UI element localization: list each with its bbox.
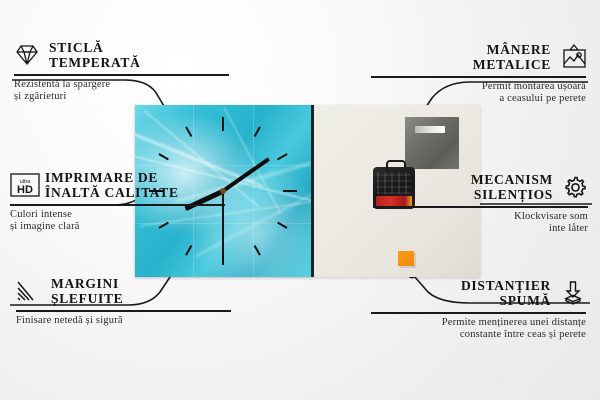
clock-tick bbox=[185, 245, 192, 256]
feature-header: STICLĂ TEMPERATĂ bbox=[14, 40, 229, 70]
feature-header: ultra HD IMPRIMARE DE ÎNALTĂ CALITATE bbox=[10, 170, 225, 200]
feature-subtitle-line1: Permit montarea ușoară bbox=[371, 81, 586, 94]
clock-tick bbox=[222, 117, 224, 131]
clock-tick bbox=[222, 251, 224, 265]
feature-title-line2: SILENȚIOS bbox=[471, 187, 553, 202]
feature-title-line2: ÎNALTĂ CALITATE bbox=[45, 185, 179, 200]
feature-title-line2: SPUMĂ bbox=[461, 293, 551, 308]
feature-title: DISTANȚIER SPUMĂ bbox=[461, 278, 551, 308]
diamond-icon bbox=[14, 42, 40, 68]
feature-margini-slefuite: MARGINI ȘLEFUITE Finisare netedă și sigu… bbox=[16, 276, 231, 327]
clock-tick bbox=[283, 190, 297, 192]
feature-subtitle-line2: și imagine clară bbox=[10, 221, 225, 234]
feature-subtitle: Rezistentă la spargere și zgârieturi bbox=[14, 79, 229, 104]
clock-tick bbox=[277, 153, 288, 160]
feature-divider bbox=[10, 204, 225, 206]
feature-title-line2: METALICE bbox=[473, 57, 551, 72]
infographic-canvas: STICLĂ TEMPERATĂ Rezistentă la spargere … bbox=[0, 0, 600, 400]
feature-divider bbox=[14, 74, 229, 76]
feature-title: MÂNERE METALICE bbox=[473, 42, 551, 72]
feature-title-line1: STICLĂ bbox=[49, 40, 141, 55]
beveled-edge-icon bbox=[16, 278, 42, 304]
clock-tick bbox=[277, 222, 288, 229]
feature-divider bbox=[371, 312, 586, 314]
feature-manere-metalice: MÂNERE METALICE Permit montarea ușoară a… bbox=[371, 42, 586, 106]
feature-imprimare-hd: ultra HD IMPRIMARE DE ÎNALTĂ CALITATE Cu… bbox=[10, 170, 225, 234]
feature-subtitle-line2: și zgârieturi bbox=[14, 91, 229, 104]
feature-subtitle-line1: Permite menținerea unei distanțe bbox=[371, 317, 586, 330]
metal-hanger-plate bbox=[405, 117, 459, 169]
ultra-hd-icon: ultra HD bbox=[10, 172, 36, 198]
feature-subtitle: Permit montarea ușoară a ceasului pe per… bbox=[371, 81, 586, 106]
feature-mecanism-silentios: MECANISM SILENȚIOS Klockvisare som inte … bbox=[373, 172, 588, 236]
feature-sticla-temperata: STICLĂ TEMPERATĂ Rezistentă la spargere … bbox=[14, 40, 229, 104]
feature-subtitle-line2: a ceasului pe perete bbox=[371, 93, 586, 106]
foam-spacer bbox=[398, 251, 414, 266]
feature-header: MECANISM SILENȚIOS bbox=[373, 172, 588, 202]
foam-spacer-icon bbox=[560, 280, 586, 306]
feature-title-line1: DISTANȚIER bbox=[461, 278, 551, 293]
feature-divider bbox=[16, 310, 231, 312]
clock-tick bbox=[254, 245, 261, 256]
clock-tick bbox=[185, 126, 192, 137]
feature-subtitle: Culori intense și imagine clară bbox=[10, 209, 225, 234]
mechanism-hook bbox=[386, 160, 406, 171]
feature-subtitle-line1: Rezistentă la spargere bbox=[14, 79, 229, 92]
clock-tick bbox=[158, 153, 169, 160]
minute-hand bbox=[222, 157, 270, 192]
feature-subtitle-line1: Finisare netedă și sigură bbox=[16, 315, 231, 328]
hanger-slot bbox=[415, 126, 445, 133]
feature-title-line1: MECANISM bbox=[471, 172, 553, 187]
feature-title: STICLĂ TEMPERATĂ bbox=[49, 40, 141, 70]
feature-divider bbox=[371, 76, 586, 78]
feature-subtitle-line1: Culori intense bbox=[10, 209, 225, 222]
feature-title: IMPRIMARE DE ÎNALTĂ CALITATE bbox=[45, 170, 179, 200]
feature-title: MARGINI ȘLEFUITE bbox=[51, 276, 123, 306]
feature-subtitle: Finisare netedă și sigură bbox=[16, 315, 231, 328]
svg-text:HD: HD bbox=[17, 184, 33, 196]
feature-title-line2: ȘLEFUITE bbox=[51, 291, 123, 306]
feature-title-line1: MÂNERE bbox=[473, 42, 551, 57]
feature-header: MARGINI ȘLEFUITE bbox=[16, 276, 231, 306]
feature-title: MECANISM SILENȚIOS bbox=[471, 172, 553, 202]
feature-distantier-spuma: DISTANȚIER SPUMĂ Permite menținerea unei… bbox=[371, 278, 586, 342]
feature-subtitle-line1: Klockvisare som bbox=[373, 211, 588, 224]
feature-header: MÂNERE METALICE bbox=[371, 42, 586, 72]
feature-subtitle: Permite menținerea unei distanțe constan… bbox=[371, 317, 586, 342]
feature-subtitle: Klockvisare som inte låter bbox=[373, 211, 588, 236]
feature-title-line1: IMPRIMARE DE bbox=[45, 170, 179, 185]
feature-subtitle-line2: inte låter bbox=[373, 223, 588, 236]
feature-subtitle-line2: constante între ceas și perete bbox=[371, 329, 586, 342]
clock-tick bbox=[254, 126, 261, 137]
picture-hanger-icon bbox=[560, 44, 586, 70]
feature-divider bbox=[373, 206, 588, 208]
feature-title-line2: TEMPERATĂ bbox=[49, 55, 141, 70]
feature-header: DISTANȚIER SPUMĂ bbox=[371, 278, 586, 308]
feature-title-line1: MARGINI bbox=[51, 276, 123, 291]
gear-icon bbox=[562, 174, 588, 200]
